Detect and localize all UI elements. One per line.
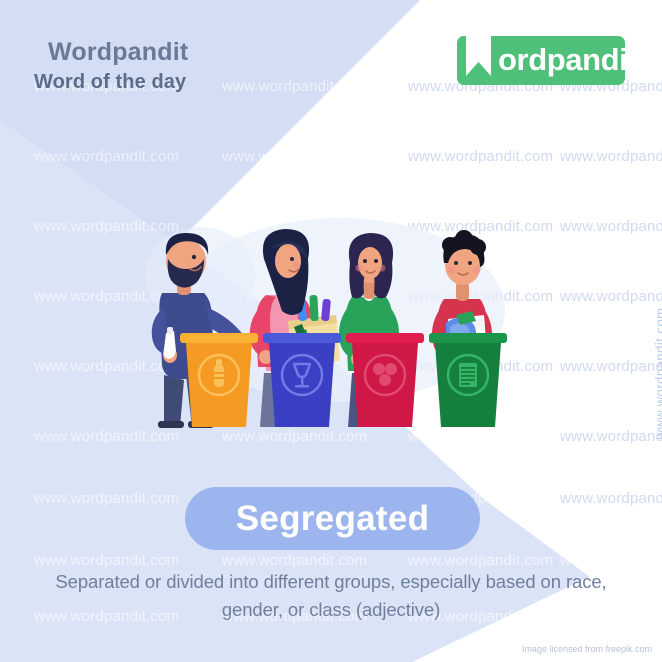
word-definition: Separated or divided into different grou… bbox=[0, 568, 662, 624]
bin-paper bbox=[429, 333, 507, 427]
bin-glass bbox=[263, 333, 341, 427]
logo-text: ordpandit bbox=[498, 42, 637, 78]
page-title: Wordpandit bbox=[48, 38, 188, 67]
bin-organic bbox=[346, 333, 424, 427]
page-subtitle: Word of the day bbox=[34, 71, 186, 94]
bin-plastic bbox=[180, 333, 258, 427]
image-credit: Image licensed from freepik.com bbox=[522, 644, 652, 654]
definition-line-1: Separated or divided into different grou… bbox=[0, 568, 662, 596]
paper-icon bbox=[459, 363, 477, 387]
word-term: Segregated bbox=[236, 499, 430, 539]
word-of-the-day-badge: Segregated bbox=[185, 487, 480, 550]
waste-sorting-illustration bbox=[140, 215, 530, 430]
word-of-the-day-card: www.wordpandit.com www.wordpandit.com ww… bbox=[0, 0, 662, 662]
definition-line-2: gender, or class (adjective) bbox=[0, 596, 662, 624]
